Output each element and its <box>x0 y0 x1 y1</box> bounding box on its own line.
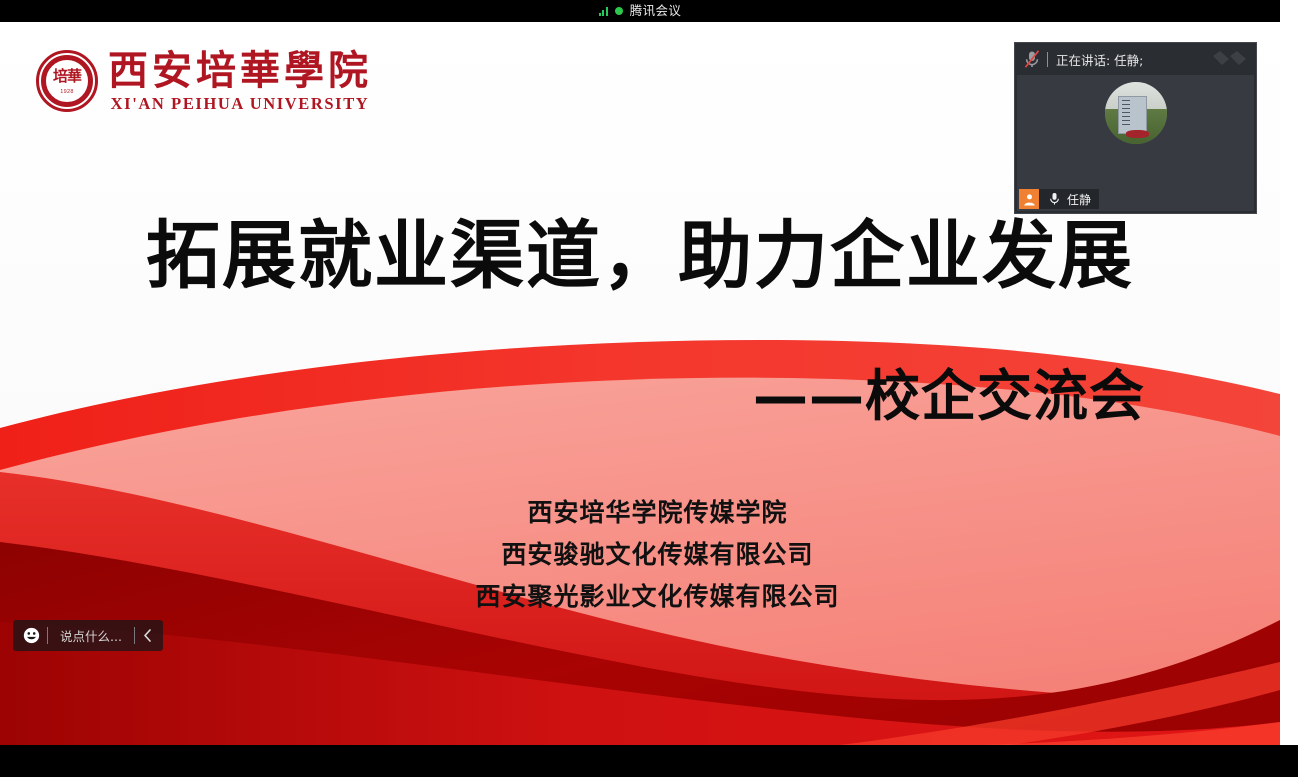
slide-organizations: 西安培华学院传媒学院 西安骏驰文化传媒有限公司 西安聚光影业文化传媒有限公司 <box>0 492 1280 618</box>
person-avatar-icon <box>1019 189 1039 209</box>
participant-name-label: 任静 <box>1067 191 1091 208</box>
video-panel-header: 正在讲话: 任静; <box>1015 43 1256 75</box>
participant-name-row: 任静 <box>1019 189 1099 209</box>
org-line: 西安聚光影业文化传媒有限公司 <box>0 576 1280 618</box>
university-seal-icon: 培華 1928 <box>36 50 98 112</box>
speaker-video-panel[interactable]: 正在讲话: 任静; <box>1014 42 1257 214</box>
smiley-emoji-icon[interactable] <box>15 627 47 644</box>
window-bottom-bar <box>0 745 1298 777</box>
chat-input-bar[interactable]: 说点什么... <box>13 620 163 651</box>
double-chevron-collapse-icon[interactable] <box>1211 51 1249 67</box>
signal-bars-icon <box>599 7 608 16</box>
header-divider <box>1047 52 1048 67</box>
university-wordmark: 西安培華學院 XI'AN PEIHUA UNIVERSITY <box>108 48 372 113</box>
university-name-cn: 西安培華學院 <box>108 48 372 94</box>
right-gutter <box>1280 0 1298 745</box>
org-line: 西安骏驰文化传媒有限公司 <box>0 534 1280 576</box>
slide-sub-title: ——校企交流会 <box>0 362 1145 430</box>
video-panel-body[interactable]: 任静 <box>1017 75 1254 211</box>
mic-on-icon <box>1045 192 1063 206</box>
seal-glyphs: 培華 <box>39 69 95 83</box>
green-status-dot <box>615 7 623 15</box>
university-logo: 培華 1928 西安培華學院 XI'AN PEIHUA UNIVERSITY <box>36 48 372 113</box>
chevron-left-icon[interactable] <box>135 629 161 642</box>
mic-muted-icon[interactable] <box>1023 49 1041 69</box>
chat-input-placeholder[interactable]: 说点什么... <box>48 626 134 645</box>
speaking-status-label: 正在讲话: 任静; <box>1056 50 1143 69</box>
seal-year: 1928 <box>39 89 95 95</box>
app-title: 腾讯会议 <box>630 5 682 18</box>
slide-main-title: 拓展就业渠道，助力企业发展 <box>0 212 1280 300</box>
participant-avatar <box>1105 82 1167 144</box>
org-line: 西安培华学院传媒学院 <box>0 492 1280 534</box>
window-titlebar: 腾讯会议 <box>0 0 1280 22</box>
university-name-en: XI'AN PEIHUA UNIVERSITY <box>108 95 372 113</box>
